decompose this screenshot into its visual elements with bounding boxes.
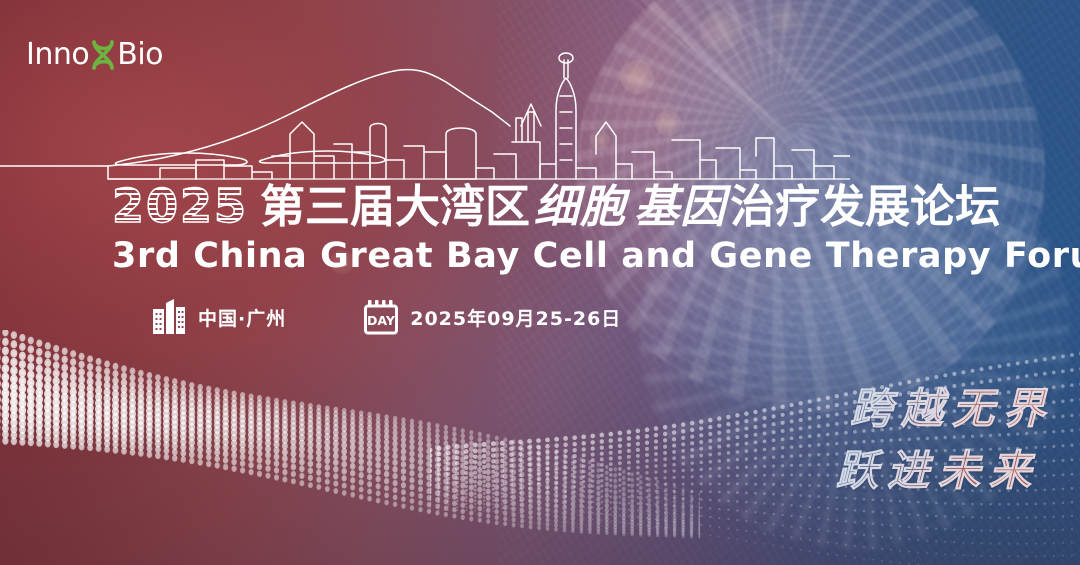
title-cn-part1: 第三届大湾区 <box>260 184 530 229</box>
slogan-line-2: 跃进未来 <box>827 450 1040 492</box>
bokeh-circle <box>700 10 742 52</box>
calendar-day-label: DAY <box>367 313 396 328</box>
title-chinese: 2025 第三届大湾区 细胞 基因 治疗发展论坛 <box>112 183 982 229</box>
slogan-line-1: 跨越无界 <box>827 388 1054 430</box>
title-cn-emphasis-gene: 基因 <box>630 184 730 229</box>
city-skyline-icon <box>0 48 850 183</box>
title-block: 2025 第三届大湾区 细胞 基因 治疗发展论坛 3rd China Great… <box>112 183 982 276</box>
bokeh-circle <box>770 4 800 34</box>
slogan-calligraphy: 跨越无界 跃进未来 <box>827 388 1054 492</box>
title-cn-emphasis-cell: 细胞 <box>530 184 630 229</box>
title-english: 3rd China Great Bay Cell and Gene Therap… <box>112 237 982 276</box>
conference-banner: Inno Bio <box>0 0 1080 565</box>
title-year: 2025 <box>112 183 248 229</box>
title-cn-part2: 治疗发展论坛 <box>730 184 1000 229</box>
location-text: 中国·广州 <box>198 304 286 331</box>
